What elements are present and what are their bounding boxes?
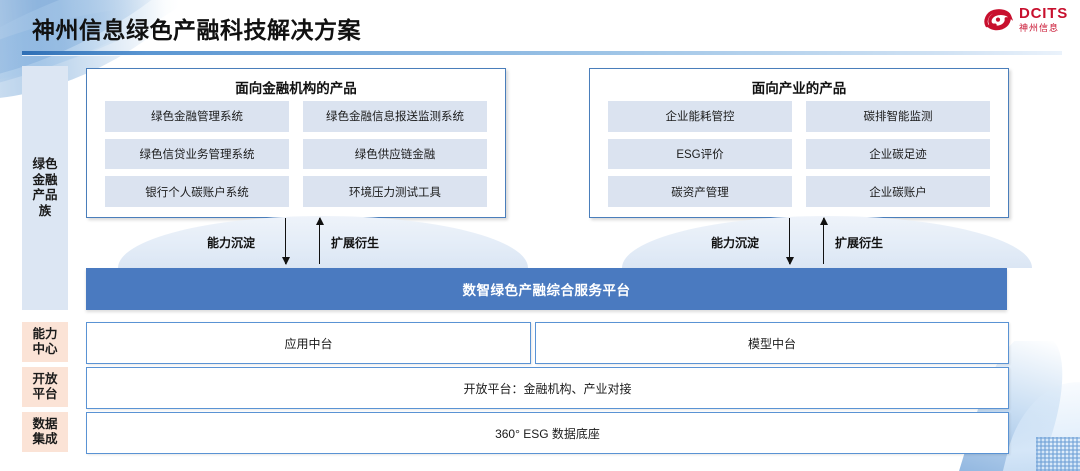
flow-label-capability-precipitation-left: 能力沉淀 xyxy=(207,234,255,251)
flow-label-expansion-derivation-left: 扩展衍生 xyxy=(331,234,379,251)
rail-line-4: 族 xyxy=(22,204,68,220)
brand-logo: DCITS 神州信息 xyxy=(983,6,1068,33)
rail-open-line-1: 开放 xyxy=(32,372,57,387)
page-title: 神州信息绿色产融科技解决方案 xyxy=(32,11,361,45)
rail-data-line-2: 集成 xyxy=(32,432,57,447)
product-tile[interactable]: 绿色供应链金融 xyxy=(303,139,487,170)
product-tile[interactable]: 银行个人碳账户系统 xyxy=(105,176,289,207)
product-tile[interactable]: 绿色信贷业务管理系统 xyxy=(105,139,289,170)
rail-label-product-family: 绿色 金融 产品 族 xyxy=(22,157,68,220)
dcits-swoosh-icon xyxy=(983,7,1013,33)
flow-label-expansion-derivation-right: 扩展衍生 xyxy=(835,234,883,251)
box-open-platform[interactable]: 开放平台：金融机构、产业对接 xyxy=(86,367,1009,409)
box-application-middle-platform[interactable]: 应用中台 xyxy=(86,322,531,364)
rail-line-2: 金融 xyxy=(22,172,68,188)
flow-label-capability-precipitation-right: 能力沉淀 xyxy=(711,234,759,251)
product-tile[interactable]: 碳资产管理 xyxy=(608,176,792,207)
rail-data-integration-label: 数据 集成 xyxy=(32,417,57,448)
rail-ability-center-label: 能力 中心 xyxy=(32,327,57,358)
rail-ability-line-2: 中心 xyxy=(32,342,57,357)
product-tile[interactable]: 企业碳足迹 xyxy=(806,139,990,170)
title-divider xyxy=(22,51,1062,55)
panel-title-industry: 面向产业的产品 xyxy=(590,77,1008,97)
product-tile[interactable]: 绿色金融管理系统 xyxy=(105,101,289,132)
product-tile[interactable]: 绿色金融信息报送监测系统 xyxy=(303,101,487,132)
rail-line-1: 绿色 xyxy=(22,157,68,173)
rail-item-ability-center: 能力 中心 xyxy=(22,322,68,362)
product-tile[interactable]: 企业能耗管控 xyxy=(608,101,792,132)
product-tile[interactable]: 碳排智能监测 xyxy=(806,101,990,132)
product-tile[interactable]: ESG评价 xyxy=(608,139,792,170)
platform-bar-label: 数智绿色产融综合服务平台 xyxy=(463,279,631,299)
arrow-up-icon-right xyxy=(823,218,824,264)
logo-text-cn: 神州信息 xyxy=(1019,24,1068,33)
logo-text-en: DCITS xyxy=(1019,6,1068,21)
product-tile[interactable]: 环境压力测试工具 xyxy=(303,176,487,207)
rail-line-3: 产品 xyxy=(22,188,68,204)
flow-arrows-right: 能力沉淀 扩展衍生 xyxy=(711,216,911,268)
panel-title-financial: 面向金融机构的产品 xyxy=(87,77,505,97)
panel-industry-products: 面向产业的产品 企业能耗管控 碳排智能监测 ESG评价 企业碳足迹 碳资产管理 … xyxy=(589,68,1009,218)
arrow-up-icon-left xyxy=(319,218,320,264)
box-model-middle-platform[interactable]: 模型中台 xyxy=(535,322,1009,364)
rail-ability-line-1: 能力 xyxy=(32,327,57,342)
rail-open-line-2: 平台 xyxy=(32,387,57,402)
rail-data-line-1: 数据 xyxy=(32,417,57,432)
rail-item-data-integration: 数据 集成 xyxy=(22,412,68,452)
product-grid-financial: 绿色金融管理系统 绿色金融信息报送监测系统 绿色信贷业务管理系统 绿色供应链金融… xyxy=(105,101,487,207)
panel-financial-institution-products: 面向金融机构的产品 绿色金融管理系统 绿色金融信息报送监测系统 绿色信贷业务管理… xyxy=(86,68,506,218)
flow-arrows-left: 能力沉淀 扩展衍生 xyxy=(207,216,407,268)
platform-bar[interactable]: 数智绿色产融综合服务平台 xyxy=(86,268,1007,310)
slide-canvas: 神州信息绿色产融科技解决方案 DCITS 神州信息 绿色 金融 产品 族 能力 … xyxy=(0,0,1080,471)
arrow-down-icon-right xyxy=(789,218,790,264)
rail-open-platform-label: 开放 平台 xyxy=(32,372,57,403)
box-data-foundation[interactable]: 360° ESG 数据底座 xyxy=(86,412,1009,454)
product-tile[interactable]: 企业碳账户 xyxy=(806,176,990,207)
arrow-down-icon-left xyxy=(285,218,286,264)
rail-item-open-platform: 开放 平台 xyxy=(22,367,68,407)
rail-green-finance-product-family: 绿色 金融 产品 族 xyxy=(22,66,68,310)
product-grid-industry: 企业能耗管控 碳排智能监测 ESG评价 企业碳足迹 碳资产管理 企业碳账户 xyxy=(608,101,990,207)
